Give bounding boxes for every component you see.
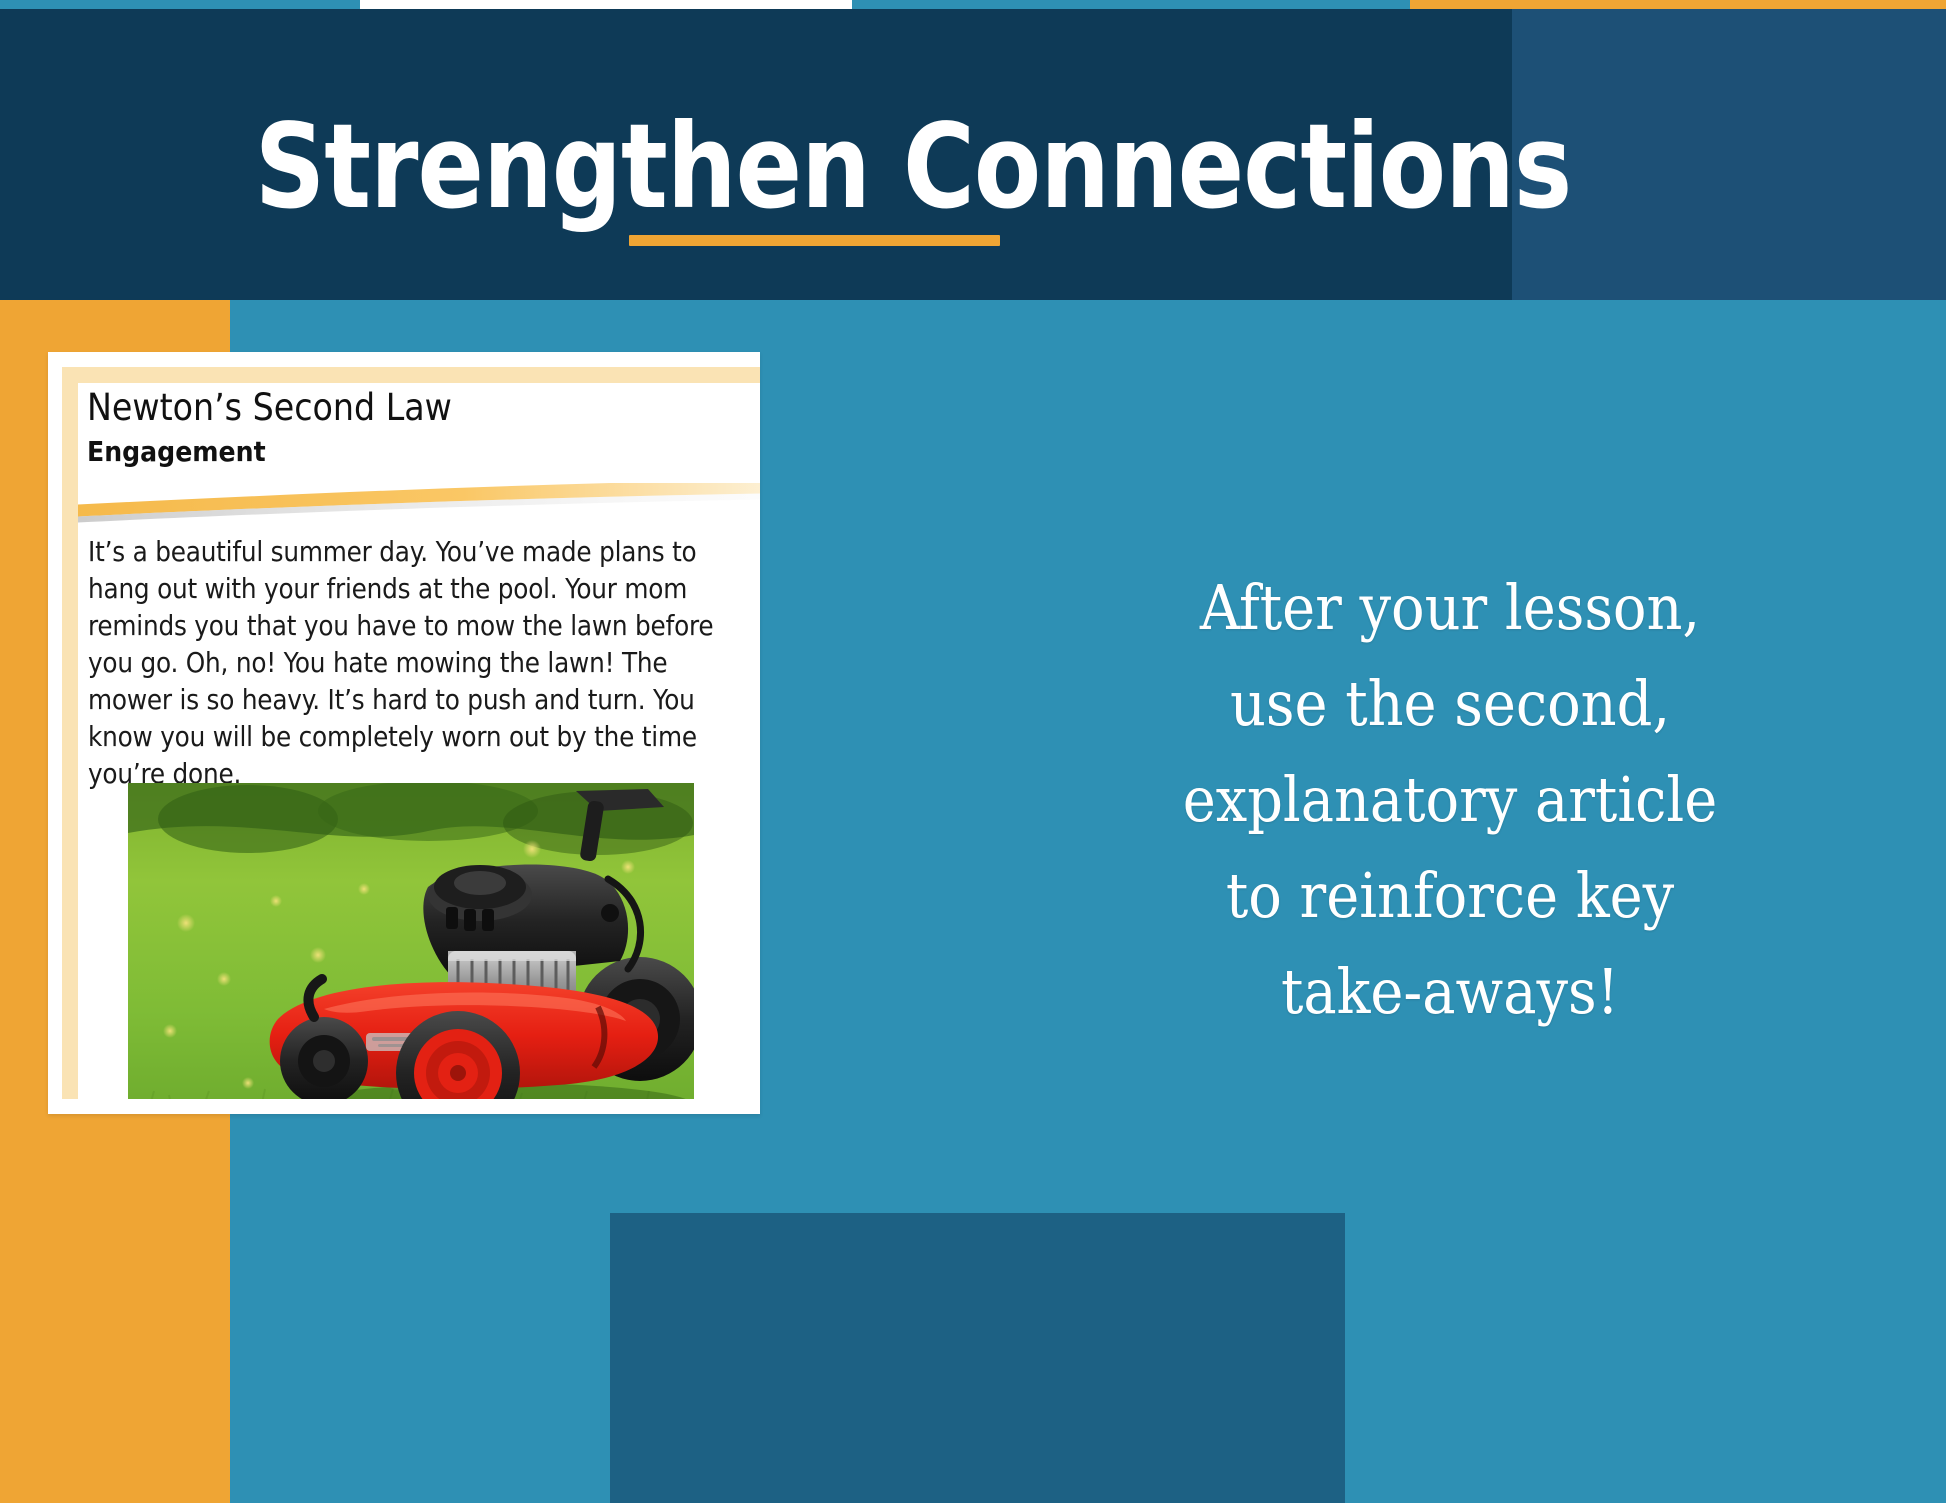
right-callout-text: After your lesson, use the second, expla… <box>1070 560 1830 1040</box>
slide-canvas: Strengthen Connections Newton’s Second L… <box>0 0 1946 1503</box>
callout-line-3: explanatory article <box>1070 752 1830 848</box>
callout-line-2: use the second, <box>1070 656 1830 752</box>
lawnmower-photo <box>128 783 694 1099</box>
title-underline-rule <box>629 235 1000 246</box>
orange-swoosh-divider <box>78 483 760 529</box>
top-accent-bar-white <box>360 0 852 9</box>
bottom-accent-block <box>610 1213 1345 1503</box>
callout-line-5: take-aways! <box>1070 944 1830 1040</box>
page-title: Strengthen Connections <box>64 108 1762 225</box>
document-title: Newton’s Second Law <box>87 386 452 429</box>
top-accent-bar-orange <box>1410 0 1946 9</box>
document-subtitle: Engagement <box>87 435 266 468</box>
document-sheet: Newton’s Second Law Engagement <box>78 383 760 1099</box>
callout-line-1: After your lesson, <box>1070 560 1830 656</box>
top-accent-bar-teal <box>852 0 1410 9</box>
document-body-text: It’s a beautiful summer day. You’ve made… <box>88 534 748 793</box>
callout-line-4: to reinforce key <box>1070 848 1830 944</box>
